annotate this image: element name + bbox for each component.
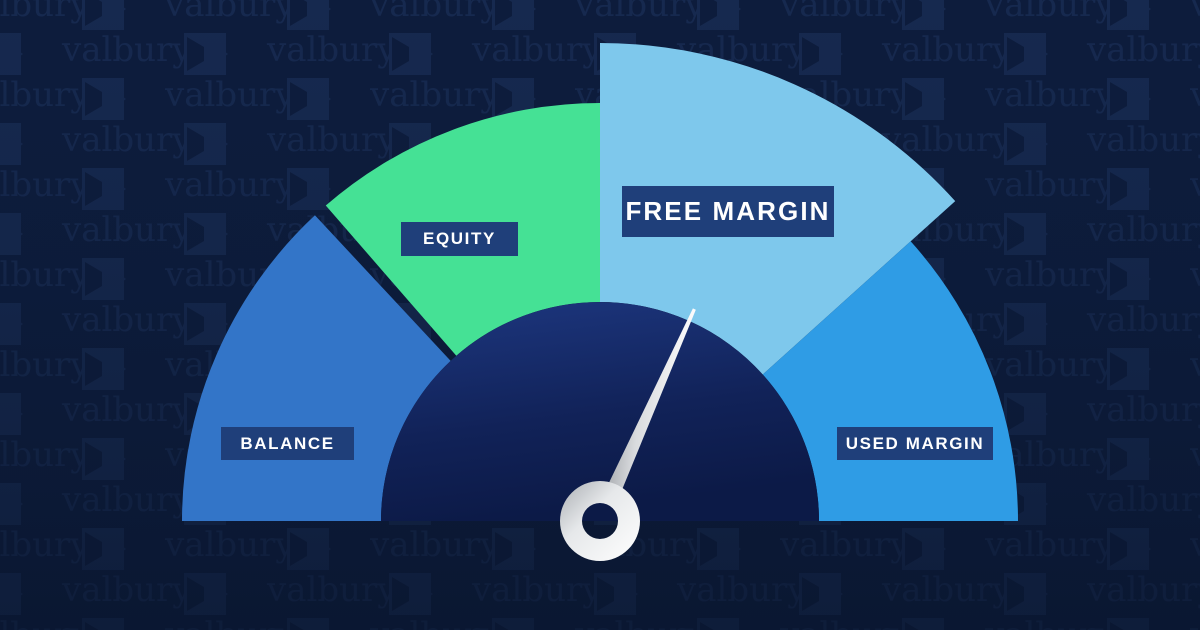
label-free-margin-text: FREE MARGIN: [625, 196, 830, 227]
label-equity-text: EQUITY: [423, 229, 496, 249]
label-used-margin[interactable]: USED MARGIN: [837, 427, 993, 460]
label-used-margin-text: USED MARGIN: [846, 434, 985, 454]
label-balance[interactable]: BALANCE: [221, 427, 354, 460]
gauge-infographic: valbury: [0, 0, 1200, 630]
label-equity[interactable]: EQUITY: [401, 222, 518, 256]
segment-labels: BALANCE EQUITY FREE MARGIN USED MARGIN: [0, 0, 1200, 630]
label-free-margin[interactable]: FREE MARGIN: [622, 186, 834, 237]
label-balance-text: BALANCE: [240, 434, 334, 454]
